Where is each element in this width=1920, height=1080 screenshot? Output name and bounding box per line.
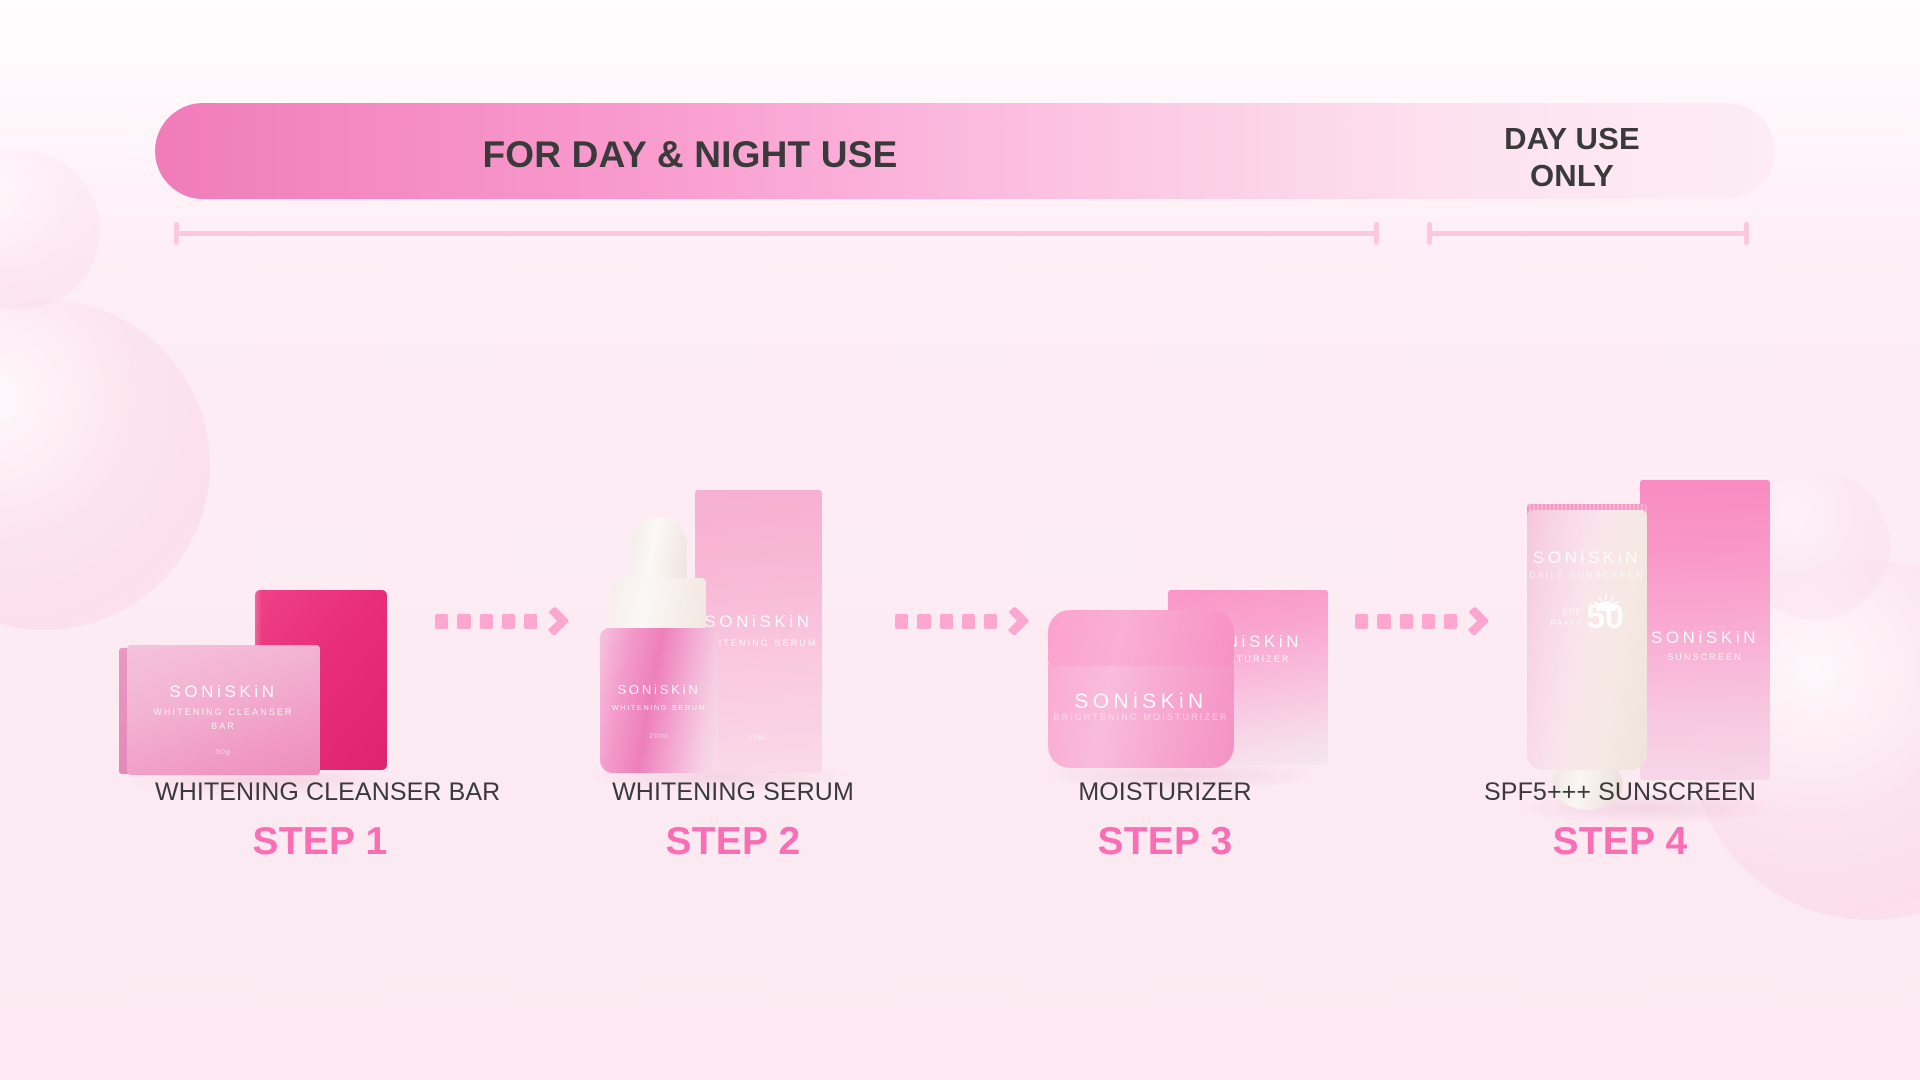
tube-product-name: DAILY SUNSCREEN bbox=[1527, 570, 1647, 580]
step-1: SONiSKiN WHITENING CLEANSER BAR 90g bbox=[105, 360, 435, 880]
serum-dropper-cap bbox=[631, 517, 687, 587]
sunscreen-tube: SONiSKiN DAILY SUNSCREEN SP bbox=[1527, 510, 1647, 770]
package-product-line-1: SUNSCREEN bbox=[1640, 652, 1770, 662]
package-product-line-1: WHITENING CLEANSER bbox=[127, 707, 320, 717]
arrow-dot bbox=[480, 614, 493, 629]
banner-label-day-and-night: FOR DAY & NIGHT USE bbox=[420, 133, 960, 177]
jar-product-name: BRIGHTENING MOISTURIZER bbox=[1048, 712, 1234, 722]
product-shadow bbox=[1511, 792, 1781, 824]
package-product-line-1: WHITENING SERUM bbox=[600, 703, 718, 712]
spf-label: SPF bbox=[1562, 607, 1583, 617]
bracket-cap-right bbox=[1744, 222, 1749, 245]
moisturizer-jar-lid bbox=[1048, 610, 1234, 666]
package-volume: 20ml bbox=[600, 733, 718, 740]
step-arrow-3-to-4 bbox=[1355, 480, 1485, 880]
banner-label-day-only-line2: ONLY bbox=[1432, 158, 1712, 195]
arrow-dot bbox=[1377, 614, 1390, 629]
bracket-day-only bbox=[1427, 222, 1749, 244]
arrow-dot bbox=[962, 614, 975, 629]
step-2-product-image: SONiSKiN WHITENING SERUM 20ML SONiSKiN W… bbox=[565, 480, 895, 880]
decorative-bubble-left-small bbox=[0, 150, 100, 310]
step-arrow-2-to-3 bbox=[895, 480, 1025, 880]
arrow-dot bbox=[457, 614, 470, 629]
step-1-product-image: SONiSKiN WHITENING CLEANSER BAR 90g bbox=[105, 480, 435, 880]
bracket-bar bbox=[1427, 231, 1749, 236]
package-brand: SONiSKiN bbox=[600, 682, 718, 697]
package-product-line-2: BAR bbox=[127, 721, 320, 731]
step-2: SONiSKiN WHITENING SERUM 20ML SONiSKiN W… bbox=[565, 360, 895, 880]
step-3: SONiSKiN MOISTURIZER SONiSKiN BRIGHTENIN… bbox=[1025, 360, 1355, 880]
bracket-cap-right bbox=[1374, 222, 1379, 245]
arrow-dot bbox=[1355, 614, 1368, 629]
package-brand: SONiSKiN bbox=[1048, 690, 1234, 714]
step-4-product-image: SONiSKiN SUNSCREEN SONiSKiN DAILY SUNSCR… bbox=[1485, 480, 1815, 880]
arrow-dot bbox=[940, 614, 953, 629]
arrow-dot bbox=[1444, 614, 1457, 629]
moisturizer-jar-body: SONiSKiN BRIGHTENING MOISTURIZER bbox=[1048, 658, 1234, 768]
bracket-day-and-night bbox=[174, 222, 1379, 244]
package-brand: SONiSKiN bbox=[1527, 548, 1647, 568]
banner-label-day-only-line1: DAY USE bbox=[1432, 121, 1712, 158]
step-3-product-image: SONiSKiN MOISTURIZER SONiSKiN BRIGHTENIN… bbox=[1025, 480, 1355, 880]
serum-bottle: SONiSKiN WHITENING SERUM 20ml bbox=[600, 628, 718, 773]
arrow-dot bbox=[895, 614, 908, 629]
spf-value: 50 bbox=[1586, 603, 1624, 633]
sunscreen-box: SONiSKiN SUNSCREEN bbox=[1640, 480, 1770, 780]
cleanser-box: SONiSKiN WHITENING CLEANSER BAR 90g bbox=[127, 645, 320, 775]
step-arrow-1-to-2 bbox=[435, 480, 565, 880]
routine-steps-row: SONiSKiN WHITENING CLEANSER BAR 90g SONi… bbox=[0, 360, 1920, 880]
spf-badge: SPF PA+++ 50 bbox=[1527, 602, 1647, 633]
arrow-dot bbox=[917, 614, 930, 629]
arrow-dot bbox=[502, 614, 515, 629]
serum-dropper-collar bbox=[612, 578, 706, 634]
package-brand: SONiSKiN bbox=[127, 682, 320, 702]
arrow-dot bbox=[524, 614, 537, 629]
banner-label-day-only: DAY USE ONLY bbox=[1432, 121, 1712, 194]
arrow-dot bbox=[1422, 614, 1435, 629]
arrow-dot bbox=[435, 614, 448, 629]
arrow-dot bbox=[984, 614, 997, 629]
pa-rating-label: PA+++ bbox=[1550, 618, 1582, 628]
package-weight: 90g bbox=[127, 749, 320, 756]
step-4: SONiSKiN SUNSCREEN SONiSKiN DAILY SUNSCR… bbox=[1485, 360, 1815, 880]
bracket-bar bbox=[174, 231, 1379, 236]
package-brand: SONiSKiN bbox=[1640, 628, 1770, 648]
arrow-dot bbox=[1400, 614, 1413, 629]
